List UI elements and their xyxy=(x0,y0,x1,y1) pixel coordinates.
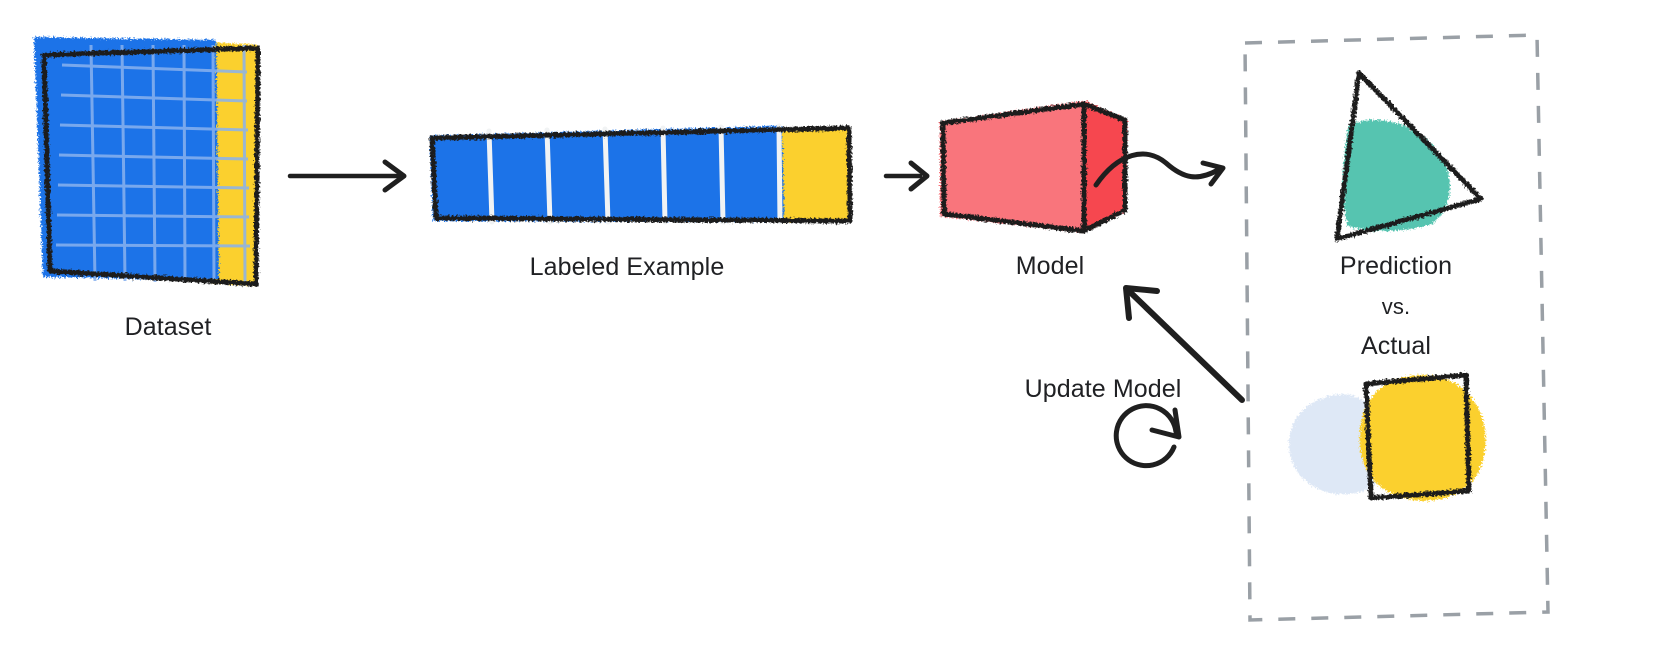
prediction-shape xyxy=(1337,73,1481,239)
arrow-labeled-example-to-model xyxy=(886,163,927,189)
actual-shape xyxy=(1289,375,1486,501)
diagram-canvas: Dataset Labeled Example Model Prediction… xyxy=(0,0,1660,668)
labeled-example-node xyxy=(430,126,850,222)
update-model-label: Update Model xyxy=(1025,374,1182,404)
labeled-example-label: Labeled Example xyxy=(530,252,725,282)
model-node xyxy=(940,101,1127,232)
actual-label: Actual xyxy=(1361,331,1431,361)
dataset-node xyxy=(34,37,258,286)
labeled-example-label-cell xyxy=(776,129,849,222)
refresh-icon xyxy=(1116,406,1179,466)
model-label: Model xyxy=(1016,251,1085,281)
vs-label: vs. xyxy=(1382,292,1410,322)
dataset-label: Dataset xyxy=(125,312,212,342)
evaluation-panel xyxy=(1245,35,1548,620)
prediction-label: Prediction xyxy=(1340,251,1452,281)
arrow-dataset-to-labeled-example xyxy=(290,162,404,190)
